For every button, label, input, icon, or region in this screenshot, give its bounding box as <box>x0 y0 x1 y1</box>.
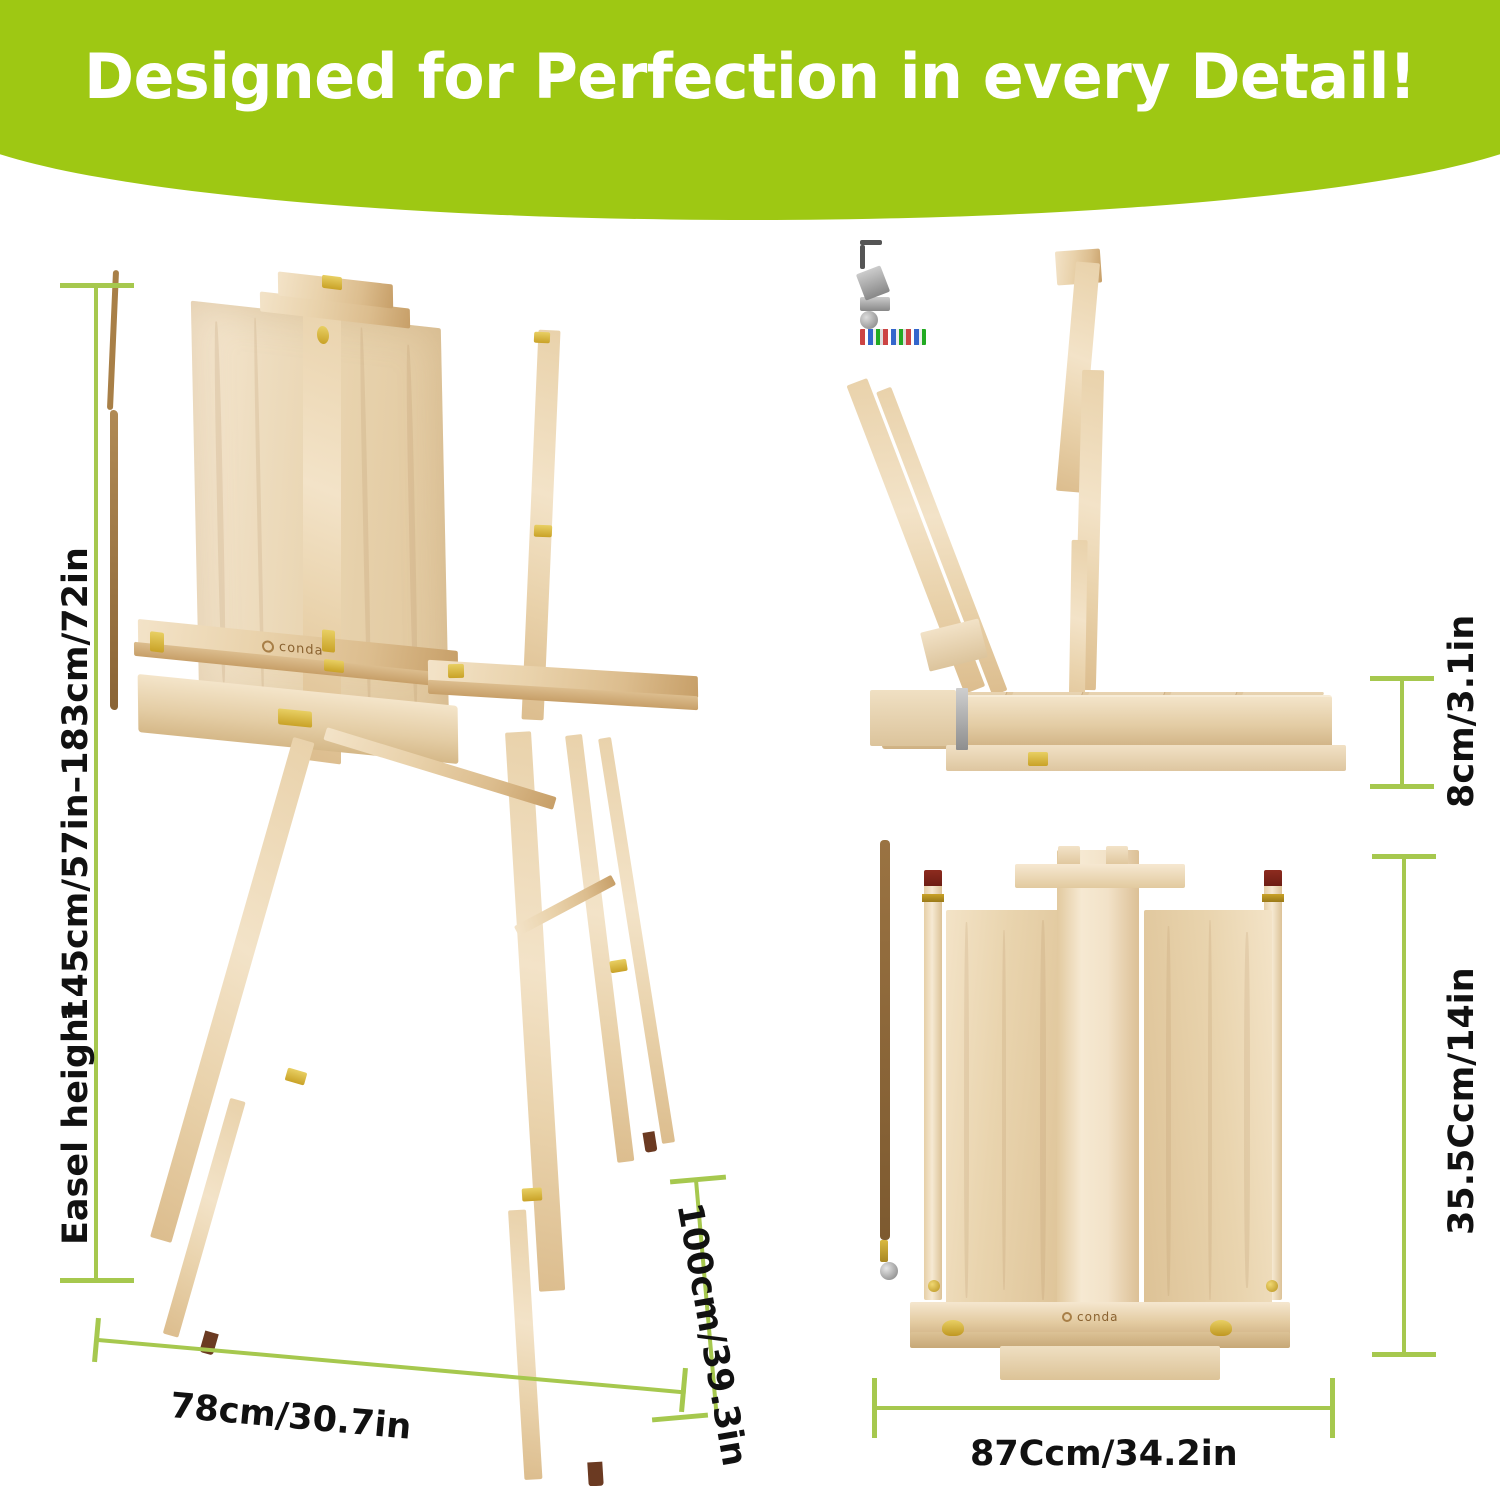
folded-base-block <box>1000 1346 1220 1380</box>
rail-cap-right <box>1264 870 1282 886</box>
arm-clamp-lower <box>856 265 890 300</box>
easel-width-value-label: 78cm/30.7in <box>168 1386 413 1448</box>
top-hook-vertical-icon <box>860 245 865 269</box>
measurement-box-width: 87Ccm/34.2in <box>860 1378 1390 1478</box>
leg-right-lock <box>609 959 628 974</box>
easel-depth-value-label: 100cm/39.3in <box>669 1200 755 1469</box>
measurement-box-height: 35.5Ccm/14in <box>1320 840 1500 1400</box>
bottom-wingnut-right <box>1210 1320 1232 1336</box>
paint-tubes <box>860 329 926 345</box>
circle-logo-mark-icon <box>1062 1312 1072 1322</box>
circle-logo-mark-icon <box>262 639 274 652</box>
leg-center-lock <box>522 1187 543 1201</box>
dimension-cap-bottom <box>60 1278 134 1283</box>
drawer-latch <box>278 708 312 727</box>
folded-front-view-illustration: conda <box>880 840 1350 1380</box>
center-mast-bolt <box>880 1262 898 1280</box>
dimension-cap-thickness-bottom <box>1370 784 1434 789</box>
top-bar-screw <box>880 1240 888 1262</box>
banner-title: Designed for Perfection in every Detail! <box>23 40 1478 113</box>
telescoping-lock-knob <box>860 311 878 329</box>
dimension-line-width <box>98 1338 686 1394</box>
dimension-cap-box-height-top <box>1372 854 1436 859</box>
brand-name-text: conda <box>1077 1310 1119 1324</box>
dimension-line-thickness <box>1400 678 1404 788</box>
box-width-value-label: 87Ccm/34.2in <box>970 1434 1238 1474</box>
dimension-cap-box-width-left <box>872 1378 877 1438</box>
rail-brass-band-left <box>922 894 944 902</box>
dimension-line-box-width <box>874 1406 1334 1410</box>
easel-leg-right <box>565 734 634 1163</box>
folded-canvas-ledge <box>920 618 988 671</box>
rail-screw-left <box>928 1280 940 1292</box>
dimension-cap-box-width-right <box>1330 1378 1335 1438</box>
dimension-cap-thickness-top <box>1370 676 1434 681</box>
folded-panel-left <box>946 910 1071 1310</box>
easel-leg-center <box>505 731 565 1292</box>
mast-lock-knob <box>317 325 329 345</box>
rail-brass-band-right <box>1262 894 1284 902</box>
rail-cap-left <box>924 870 942 886</box>
side-rail-left <box>924 880 942 1300</box>
paint-box-front-rail <box>946 745 1346 771</box>
paint-box-side-drawer <box>870 690 956 746</box>
ledge-center-screw <box>322 629 335 652</box>
easel-height-value-label: 145cm/57in–183cm/72in <box>56 547 96 1022</box>
rail-screw-right <box>1266 1280 1278 1292</box>
folded-panel-right <box>1144 910 1272 1310</box>
folded-center-mast <box>1057 850 1139 1320</box>
center-mast-slot <box>880 840 890 1240</box>
box-height-value-label: 35.5Ccm/14in <box>1442 967 1482 1235</box>
easel-height-name-label: Easel height <box>56 1001 96 1245</box>
box-thickness-value-label: 8cm/3.1in <box>1442 615 1482 808</box>
leg-left-lock <box>285 1067 308 1085</box>
strut-thumbscrew <box>534 525 553 538</box>
shelf-screw <box>448 664 464 678</box>
brand-logo-folded-easel: conda <box>1062 1310 1119 1324</box>
folded-top-cross-bar <box>1015 864 1185 888</box>
bottom-wingnut-left <box>942 1320 964 1336</box>
measurement-easel-height: 145cm/57in–183cm/72in Easel height <box>0 0 220 1478</box>
dimension-cap-box-height-bottom <box>1372 1352 1436 1357</box>
box-front-wingnut <box>1028 752 1048 766</box>
header-banner: Designed for Perfection in every Detail! <box>0 0 1500 230</box>
dimension-cap-depth-bottom <box>652 1413 708 1423</box>
box-hinge-plate <box>956 688 968 750</box>
measurement-easel-depth: 100cm/39.3in <box>640 1150 820 1480</box>
ledge-wingnut <box>324 659 344 673</box>
top-clamp-wingnut <box>322 275 342 291</box>
measurement-box-thickness: 8cm/3.1in <box>1330 640 1500 840</box>
strut-top-screw <box>534 332 550 344</box>
measurement-easel-width: 78cm/30.7in <box>90 1290 730 1470</box>
dimension-line-box-height <box>1402 856 1406 1356</box>
dimension-cap-top <box>60 283 134 288</box>
